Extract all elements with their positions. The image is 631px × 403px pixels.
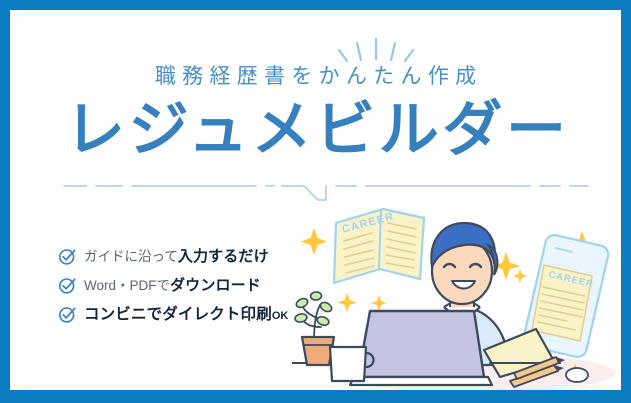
feature-text-small: OK <box>272 310 289 322</box>
feature-text-bold: ダウンロード <box>170 277 261 294</box>
person-at-laptop-illustration: CAREER CAREER <box>292 195 621 390</box>
eraser-icon <box>566 368 588 382</box>
feature-text: ガイドに沿って入力するだけ <box>84 249 269 264</box>
open-book-icon: CAREER <box>334 209 424 283</box>
potted-plant-icon <box>294 292 334 365</box>
check-circle-icon <box>58 305 77 324</box>
feature-text: Word・PDFでダウンロード <box>84 278 261 293</box>
feature-list: ガイドに沿って入力するだけ Word・PDFでダウンロード コンビニ <box>58 243 323 330</box>
feature-item: コンビニでダイレクト印刷OK <box>58 301 323 328</box>
feature-text-bold: コンビニでダイレクト印刷 <box>84 306 272 323</box>
banner-inner: 職務経歴書をかんたん作成 レジュメビルダー <box>10 10 621 390</box>
banner-subtitle: 職務経歴書をかんたん作成 <box>10 60 621 90</box>
promo-banner: 職務経歴書をかんたん作成 レジュメビルダー <box>0 0 631 403</box>
feature-text-light: ガイドに沿って <box>84 249 178 264</box>
feature-text: コンビニでダイレクト印刷OK <box>84 307 288 323</box>
check-circle-icon <box>58 276 77 295</box>
banner-title: レジュメビルダー <box>10 98 621 161</box>
feature-text-bold: 入力するだけ <box>178 248 269 265</box>
feature-item: ガイドに沿って入力するだけ <box>58 243 323 270</box>
laptop-icon <box>350 311 492 385</box>
feature-text-light: Word・PDFで <box>84 278 170 293</box>
feature-item: Word・PDFでダウンロード <box>58 272 323 299</box>
check-circle-icon <box>58 247 77 266</box>
